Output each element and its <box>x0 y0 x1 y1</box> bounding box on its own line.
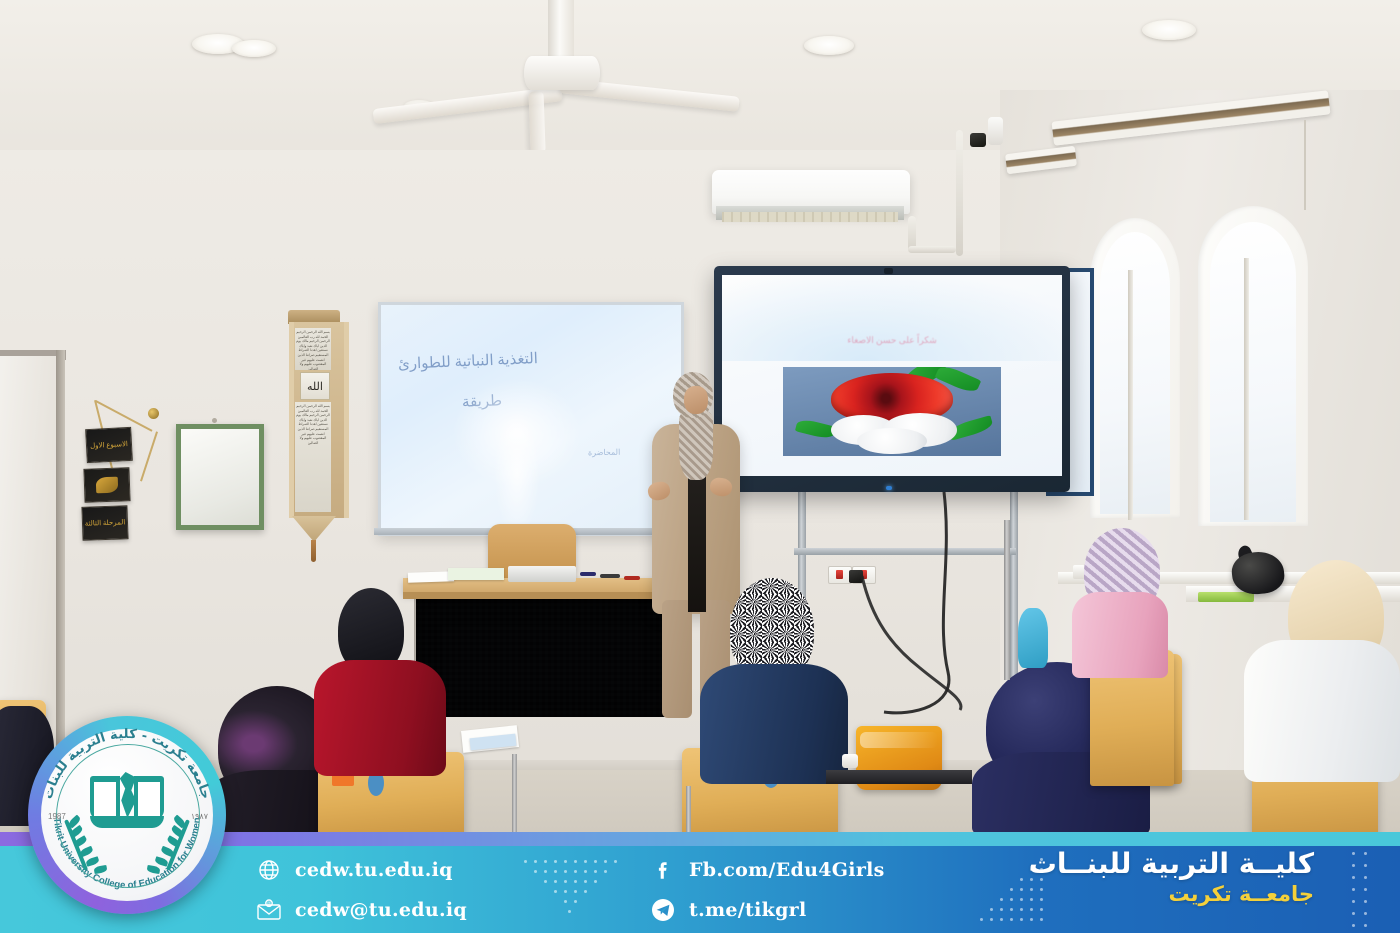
picture-nail <box>212 418 217 423</box>
paper-cup <box>842 754 858 768</box>
website-url[interactable]: cedw.tu.edu.iq <box>295 859 453 881</box>
wreath-leaf <box>154 856 169 867</box>
papers-on-desk <box>448 568 504 580</box>
wreath-leaf <box>85 856 100 867</box>
whiteboard-glare <box>494 408 540 538</box>
islamic-wall-tapestry: بسم الله الرحمن الرحيم الحمد لله رب العا… <box>288 310 340 550</box>
gold-ornament <box>148 408 159 419</box>
wall-plaque-ornament <box>83 467 130 503</box>
fan-downrod <box>548 0 574 62</box>
book-right-page <box>138 782 160 816</box>
student-body-navy <box>700 664 848 784</box>
contact-telegram[interactable]: t.me/tikgrl <box>650 897 807 923</box>
classroom-photograph: الاسبوع الاول المرحلة الثالثة بسم الله ا… <box>0 0 1400 840</box>
student-coat-white <box>1244 640 1400 782</box>
whiteboard-handwriting-line-3: المحاضرة <box>588 448 620 458</box>
logo-wreath-right <box>124 812 186 874</box>
picture-canvas <box>181 429 259 525</box>
wreath-leaf <box>93 865 107 874</box>
wall-conduit <box>956 130 963 256</box>
contact-website[interactable]: cedw.tu.edu.iq <box>256 857 453 883</box>
marker <box>600 574 620 578</box>
window-mullion <box>1244 258 1249 520</box>
smartboard-power-led <box>886 486 892 490</box>
globe-icon <box>256 857 282 883</box>
slide-title-text: شكراً على حسن الاصغاء <box>722 335 1062 346</box>
bag-crinkle <box>860 732 938 748</box>
slide-flower-image <box>783 367 1001 455</box>
wreath-leaf <box>160 846 175 858</box>
presenter-scarf <box>679 410 713 480</box>
dot-pattern-far-right <box>1352 846 1392 933</box>
desk-edge-right <box>826 770 972 784</box>
smartboard-screen[interactable]: شكراً على حسن الاصغاء <box>722 275 1062 476</box>
blind-cord <box>1304 120 1306 210</box>
logo-year-arabic: ١٩٨٧ <box>191 812 208 821</box>
presenter-inner-top <box>688 470 706 612</box>
student-jacket-pink <box>1072 592 1168 678</box>
security-camera-icon <box>970 133 986 147</box>
smartboard-camera-icon <box>884 268 893 274</box>
ceiling-light <box>804 36 854 55</box>
presenter-trousers <box>662 600 692 718</box>
tapestry-verse-upper: بسم الله الرحمن الرحيم الحمد لله رب العا… <box>295 328 331 370</box>
window-glass <box>1100 232 1170 514</box>
fan-motor-housing <box>524 56 600 90</box>
contact-facebook[interactable]: Fb.com/Edu4Girls <box>650 857 885 883</box>
logo-year-latin: 1987 <box>48 812 66 821</box>
envelope-icon: @ <box>256 897 282 923</box>
window-mullion <box>1128 270 1133 520</box>
book-left-page <box>94 782 116 816</box>
marker <box>624 576 640 580</box>
tapestry-verse-lower: بسم الله الرحمن الرحيم الحمد لله رب العا… <box>295 402 331 512</box>
blue-cloth <box>1018 608 1048 668</box>
presenter-face <box>684 386 708 414</box>
ac-louvers <box>722 212 898 222</box>
facebook-handle[interactable]: Fb.com/Edu4Girls <box>689 859 885 881</box>
gold-leaf-motif <box>96 477 119 494</box>
logo-wreath-left <box>68 812 130 874</box>
tapestry-allah-medallion: الله <box>300 372 330 400</box>
slide-background-wave <box>722 275 1062 361</box>
tapestry-tassel <box>311 540 316 562</box>
smartboard-stand-crossbar <box>794 548 1016 555</box>
dot-pattern-left <box>524 846 634 933</box>
marker <box>580 572 596 576</box>
box-on-desk <box>508 566 576 582</box>
wall-plaque: الاسبوع الاول <box>85 427 133 463</box>
facebook-icon <box>650 857 676 883</box>
ac-pipe <box>908 246 956 253</box>
university-name-arabic: جامعــة تكريت <box>1029 882 1314 907</box>
smartboard: شكراً على حسن الاصغاء <box>714 266 1070 492</box>
ceiling-light <box>232 40 276 57</box>
white-flower <box>857 428 927 455</box>
university-logo: جامعة تكريت - كلية التربية للبنات Tikrit… <box>28 716 226 914</box>
college-name-arabic: كليــة التربية للبنــات <box>1029 848 1314 880</box>
socket-switch[interactable] <box>836 570 843 579</box>
pole <box>1004 520 1010 680</box>
green-notebook <box>1198 592 1254 602</box>
svg-text:@: @ <box>267 901 272 906</box>
desk-edge <box>403 592 685 599</box>
ceiling-light <box>1142 20 1196 40</box>
institution-names: كليــة التربية للبنــات جامعــة تكريت <box>1029 848 1314 907</box>
wreath-leaf <box>146 865 160 874</box>
wall-plaque: المرحلة الثالثة <box>81 505 128 541</box>
student-jacket-red <box>314 660 446 776</box>
window-glass <box>1210 222 1296 522</box>
wreath-leaf <box>79 846 94 858</box>
camera-mount <box>988 117 1003 145</box>
power-plug <box>849 570 863 583</box>
fan-blade <box>529 91 546 153</box>
telegram-icon <box>650 897 676 923</box>
telegram-handle[interactable]: t.me/tikgrl <box>689 899 807 921</box>
screenshot-root: الاسبوع الاول المرحلة الثالثة بسم الله ا… <box>0 0 1400 933</box>
desk-front-panel <box>416 599 668 717</box>
chair-leg <box>512 754 517 840</box>
tapestry-bottom-point <box>292 516 336 542</box>
framed-picture <box>176 424 264 530</box>
contact-email[interactable]: @ cedw@tu.edu.iq <box>256 897 467 923</box>
email-address[interactable]: cedw@tu.edu.iq <box>295 899 467 921</box>
